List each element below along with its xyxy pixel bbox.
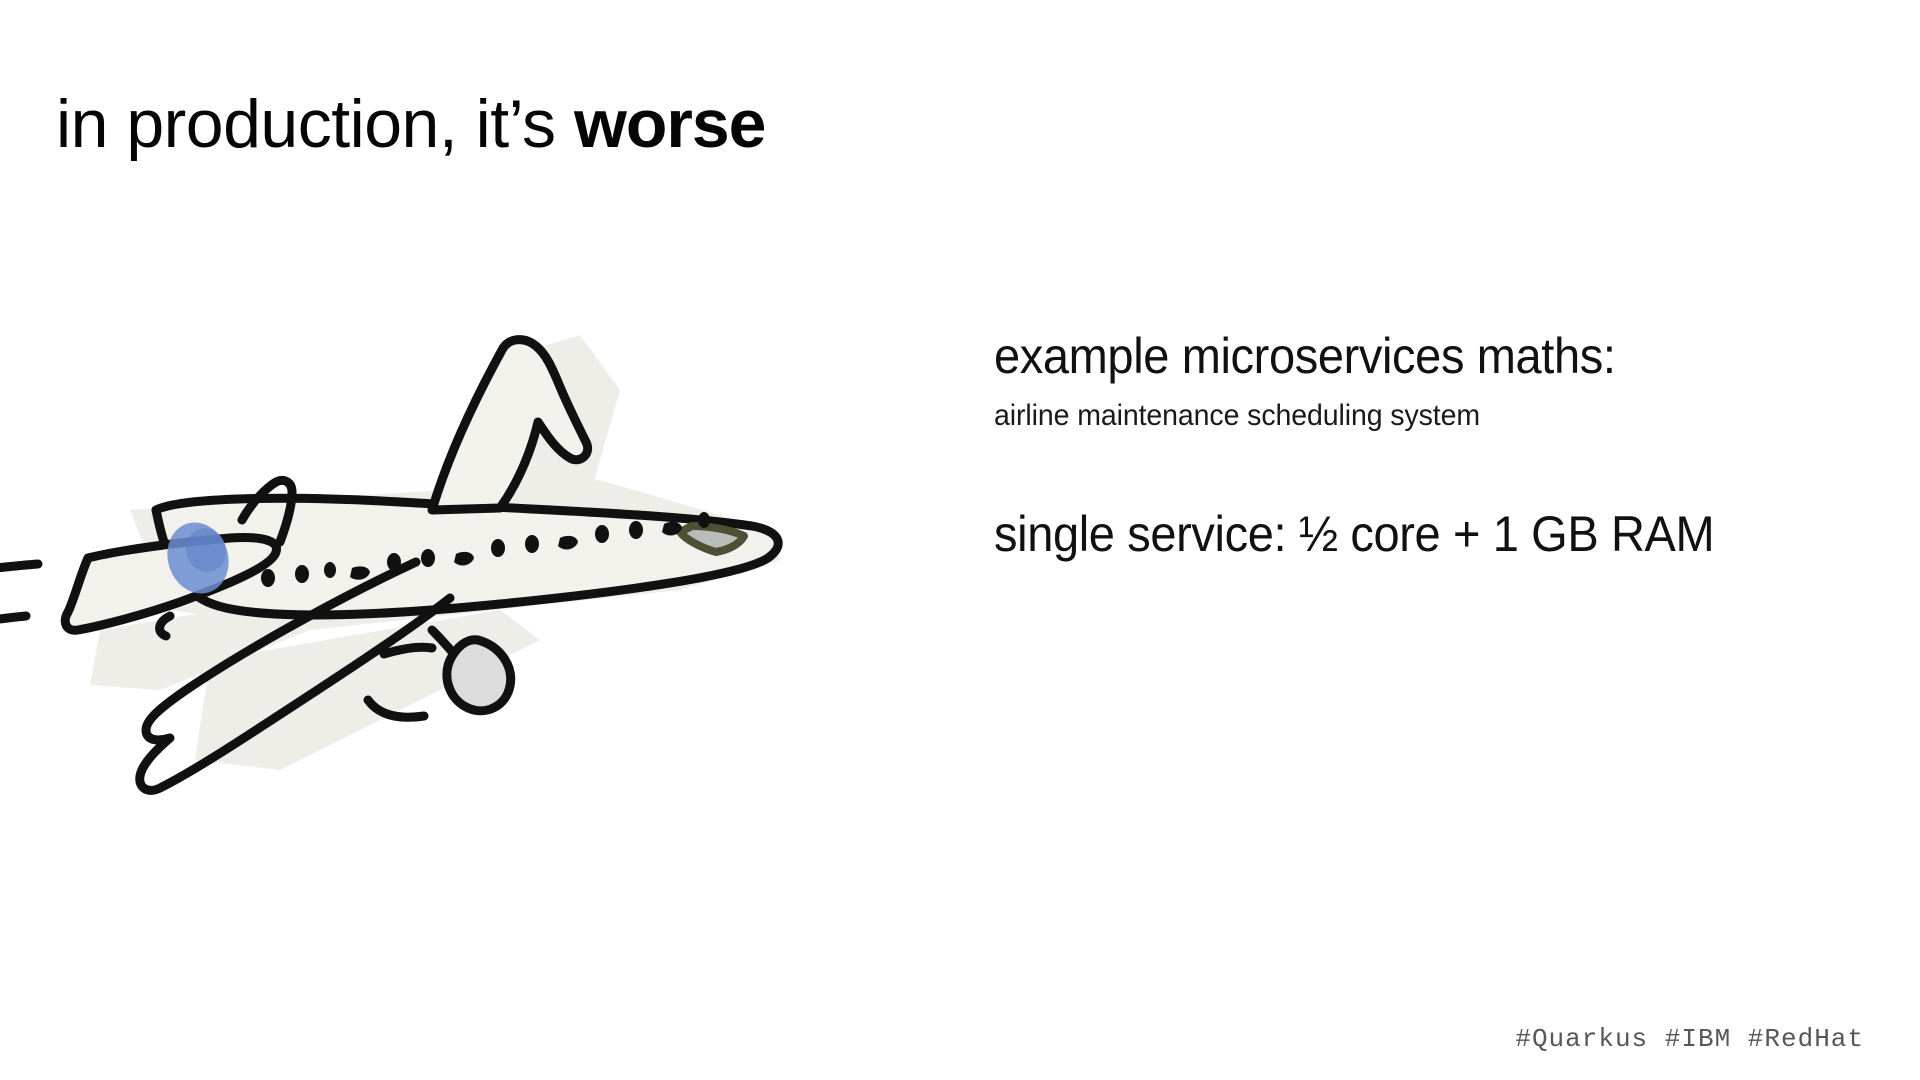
- page-title: in production, it’s worse: [56, 90, 765, 158]
- body-subheading: airline maintenance scheduling system: [994, 393, 1722, 438]
- title-lead-text: in production, it’s: [56, 86, 574, 162]
- footer-hashtags: #Quarkus #IBM #RedHat: [1515, 1024, 1864, 1054]
- body-text-block: example microservices maths: airline mai…: [994, 330, 1760, 560]
- slide-canvas: in production, it’s worse: [0, 0, 1920, 1080]
- airplane-motion-lines: [0, 564, 38, 626]
- airplane-illustration: [0, 330, 980, 970]
- body-heading: example microservices maths:: [994, 330, 1714, 383]
- airplane-drawing-svg: [0, 330, 980, 970]
- body-resource-line: single service: ½ core + 1 GB RAM: [994, 508, 1714, 561]
- title-emphasis-text: worse: [574, 86, 766, 162]
